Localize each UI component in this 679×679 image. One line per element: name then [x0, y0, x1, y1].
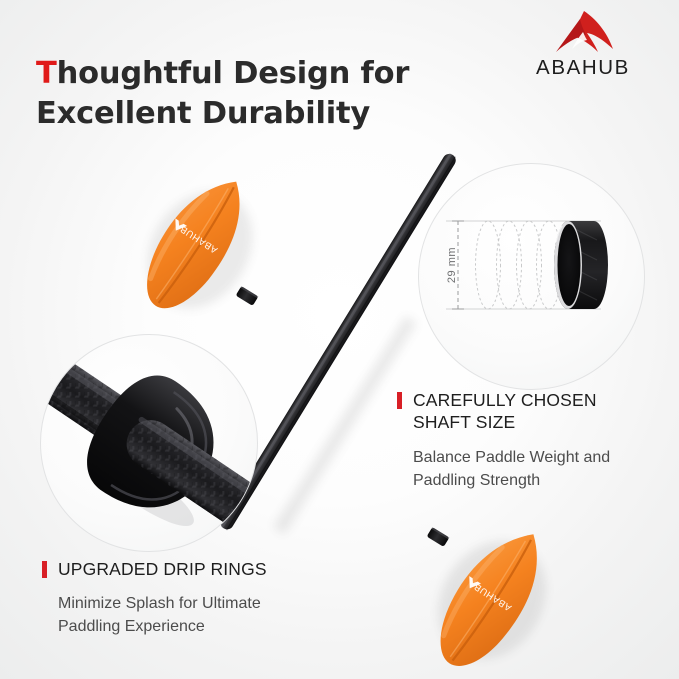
callout-drip-rings-title: UPGRADED DRIP RINGS — [58, 558, 267, 580]
callout-drip-rings-subtitle: Minimize Splash for Ultimate Paddling Ex… — [58, 593, 342, 638]
accent-tick-icon — [397, 392, 402, 409]
callout-shaft-size: CAREFULLY CHOSEN SHAFT SIZE Balance Padd… — [397, 389, 665, 492]
page-title: Thoughtful Design for Excellent Durabili… — [36, 54, 506, 135]
headline-accent-letter: T — [36, 56, 57, 91]
product-feature-graphic: ABAHUB ABAHUB — [0, 0, 679, 679]
carbon-tube — [554, 221, 608, 309]
drip-ring-upper — [236, 286, 259, 306]
shaft-diameter-label: 29 mm — [446, 247, 458, 283]
callout-drip-rings: UPGRADED DRIP RINGS Minimize Splash for … — [42, 558, 342, 639]
shaft-size-inset: 29 mm — [418, 163, 645, 390]
headline-line1-rest: houghtful Design for — [57, 56, 410, 91]
blade-logo-text-top: ABAHUB — [178, 223, 220, 255]
blade-logo-text-bottom: ABAHUB — [472, 581, 514, 613]
callout-shaft-size-subtitle: Balance Paddle Weight and Paddling Stren… — [413, 447, 665, 492]
drip-ring-inset — [40, 334, 258, 552]
accent-tick-icon — [42, 561, 47, 578]
abahub-swoosh-icon — [550, 10, 616, 56]
drip-ring-lower — [427, 527, 450, 547]
headline-line2: Excellent Durability — [36, 96, 370, 131]
brand-wordmark: ABAHUB — [513, 58, 653, 79]
cross-section-ellipses — [476, 221, 562, 309]
callout-shaft-size-title: CAREFULLY CHOSEN SHAFT SIZE — [413, 389, 597, 434]
brand-logo: ABAHUB — [513, 10, 653, 79]
